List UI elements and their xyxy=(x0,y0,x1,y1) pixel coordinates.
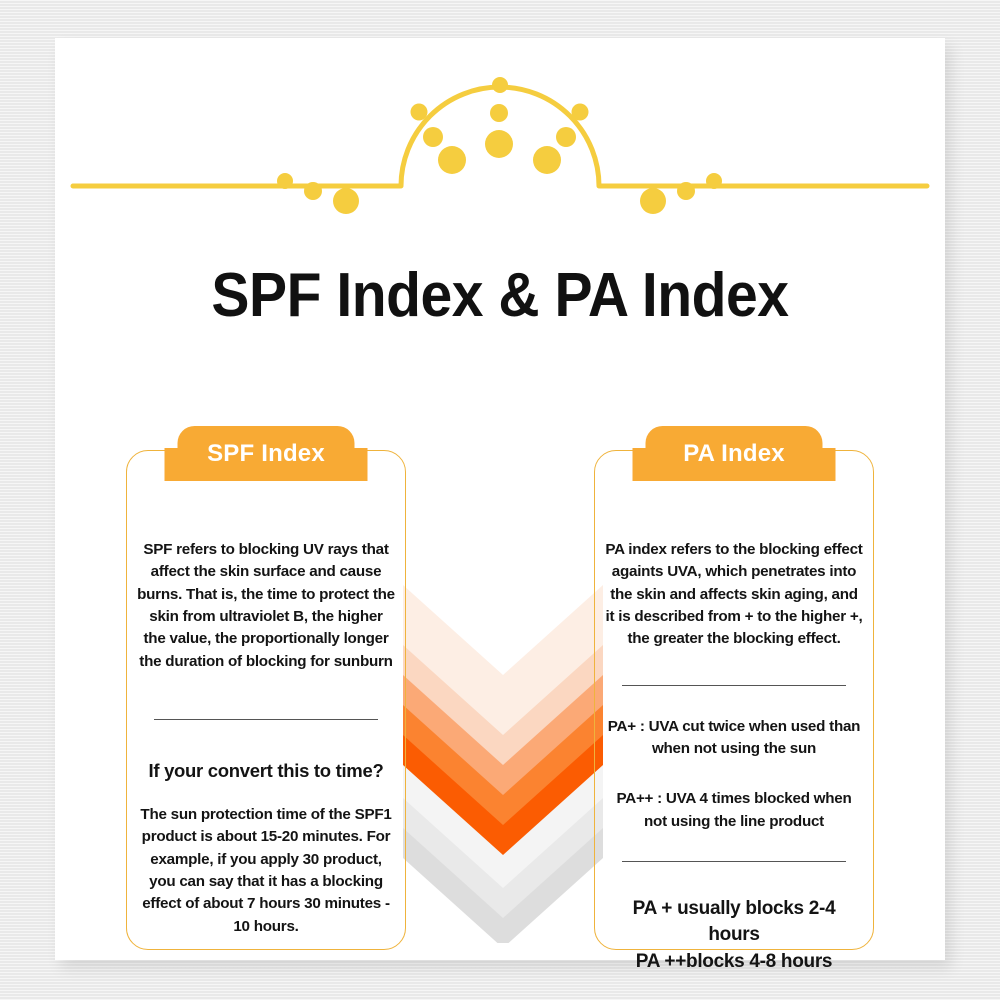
ray-dot xyxy=(485,130,513,158)
layered-chevron-graphic xyxy=(403,583,603,943)
ray-dot xyxy=(490,104,508,122)
ray-dot xyxy=(277,173,293,189)
pa-level-two-text: PA++ : UVA 4 times blocked when not usin… xyxy=(605,788,863,833)
ray-dot xyxy=(411,104,428,121)
spf-detail-text: The sun protection time of the SPF1 prod… xyxy=(137,804,395,938)
sun-ray-dots xyxy=(277,77,722,214)
card-pa-badge: PA Index xyxy=(646,426,823,481)
card-spf-badge: SPF Index xyxy=(178,426,355,481)
card-spf-index: SPF Index SPF refers to blocking UV rays… xyxy=(126,450,406,950)
ray-dot xyxy=(492,77,508,93)
ray-dot xyxy=(304,182,322,200)
ray-dot xyxy=(706,173,722,189)
ray-dot xyxy=(333,188,359,214)
ray-dot xyxy=(438,146,466,174)
pa-intro-text: PA index refers to the blocking effect a… xyxy=(605,539,863,651)
pa-summary-line-one: PA + usually blocks 2-4 hours xyxy=(605,896,863,948)
ray-dot xyxy=(423,127,443,147)
sunrise-icon xyxy=(55,38,945,228)
ray-dot xyxy=(640,188,666,214)
spf-question-heading: If your convert this to time? xyxy=(137,760,395,782)
page-title: SPF Index & PA Index xyxy=(91,260,910,331)
spf-intro-text: SPF refers to blocking UV rays that affe… xyxy=(137,539,395,673)
ray-dot xyxy=(677,182,695,200)
card-spf-body: SPF refers to blocking UV rays that affe… xyxy=(127,499,405,938)
pa-summary-line-two: PA ++blocks 4-8 hours xyxy=(605,949,863,975)
ray-dot xyxy=(556,127,576,147)
ray-dot xyxy=(533,146,561,174)
card-pa-index: PA Index PA index refers to the blocking… xyxy=(594,450,874,950)
ray-dot xyxy=(572,104,589,121)
card-pa-body: PA index refers to the blocking effect a… xyxy=(595,499,873,975)
poster-panel: SPF Index & PA Index SPF Index SPF refer… xyxy=(55,38,945,960)
pa-level-one-text: PA+ : UVA cut twice when used than when … xyxy=(605,716,863,761)
